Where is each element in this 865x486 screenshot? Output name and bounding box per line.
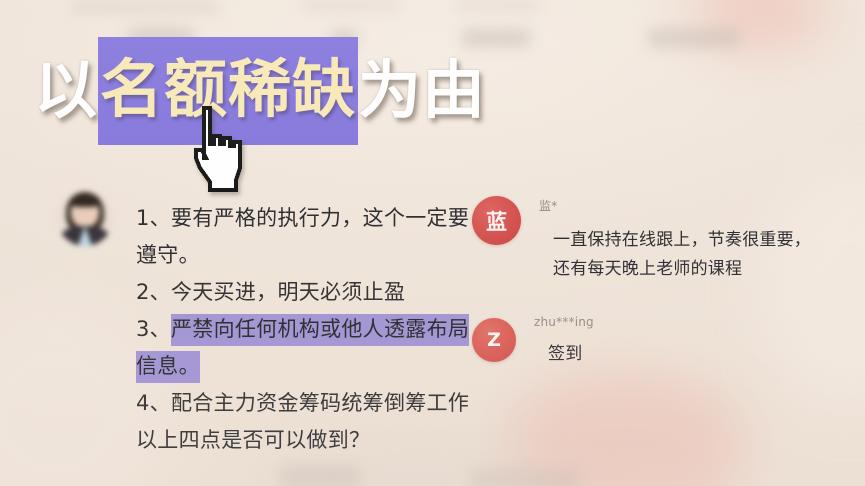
screenshot-stage: 以 名额稀缺 为由 1、要有严格的执行力，这个一定要 遵守。 2、今天买进，明天… — [0, 0, 865, 486]
chat-avatar[interactable]: Z — [472, 318, 516, 362]
message-body: 1、要有严格的执行力，这个一定要 遵守。 2、今天买进，明天必须止盈 3、严禁向… — [136, 200, 466, 459]
message-highlight: 严禁向任何机构或他人透露布局 — [171, 314, 469, 346]
message-line-text: 4、配合主力资金筹码统筹倒筹工作 — [136, 391, 469, 415]
message-line: 1、要有严格的执行力，这个一定要 — [136, 200, 466, 237]
background-blurred-ui-bar — [280, 466, 360, 486]
chat-message-item: 蓝 监* 一直保持在线跟上，节奏很重要， 还有每天晚上老师的课程 — [472, 196, 852, 284]
headline-segment-plain-left: 以 — [34, 48, 98, 134]
chat-message-list: 蓝 监* 一直保持在线跟上，节奏很重要， 还有每天晚上老师的课程 Z zhu**… — [472, 196, 852, 369]
message-line: 2、今天买进，明天必须止盈 — [136, 274, 466, 311]
background-blurred-ui-bar — [462, 29, 530, 47]
background-blurred-ui-bar — [648, 28, 740, 48]
message-line: 以上四点是否可以做到？ — [136, 422, 466, 459]
pointing-hand-cursor-icon — [190, 106, 256, 192]
chat-sender-name: 监* — [539, 197, 811, 214]
chat-message-text: 一直保持在线跟上，节奏很重要， 还有每天晚上老师的课程 — [553, 226, 811, 284]
message-line-highlighted: 3、严禁向任何机构或他人透露布局 — [136, 311, 466, 348]
message-line-text: 1、要有严格的执行力，这个一定要 — [136, 206, 469, 230]
chat-avatar[interactable]: 蓝 — [472, 196, 521, 245]
chat-message-item: Z zhu***ing 签到 — [472, 314, 852, 369]
chat-sender-name: zhu***ing — [534, 315, 594, 329]
message-line-text: 遵守。 — [136, 243, 200, 267]
background-blurred-ui-bar — [455, 1, 541, 10]
headline-segment-plain-right: 为由 — [358, 48, 486, 134]
chat-message-text: 签到 — [548, 340, 594, 369]
chat-message-content: zhu***ing 签到 — [534, 314, 594, 369]
background-blurred-ui-bar — [470, 468, 580, 486]
message-line-text: 2、今天买进，明天必须止盈 — [136, 280, 405, 304]
background-blurred-ui-bar — [300, 1, 400, 10]
message-line-highlighted: 信息。 — [136, 348, 466, 385]
message-line: 遵守。 — [136, 237, 466, 274]
message-line: 4、配合主力资金筹码统筹倒筹工作 — [136, 385, 466, 422]
headline-caption: 以 名额稀缺 为由 — [34, 48, 486, 134]
sender-avatar — [57, 190, 113, 246]
background-blurred-ui-bar — [70, 2, 220, 12]
avatar-fringe — [70, 194, 100, 207]
message-line-text: 3、 — [136, 317, 171, 341]
chat-message-content: 监* 一直保持在线跟上，节奏很重要， 还有每天晚上老师的课程 — [539, 196, 811, 284]
message-line-text: 以上四点是否可以做到？ — [136, 428, 370, 452]
message-highlight: 信息。 — [136, 351, 200, 383]
